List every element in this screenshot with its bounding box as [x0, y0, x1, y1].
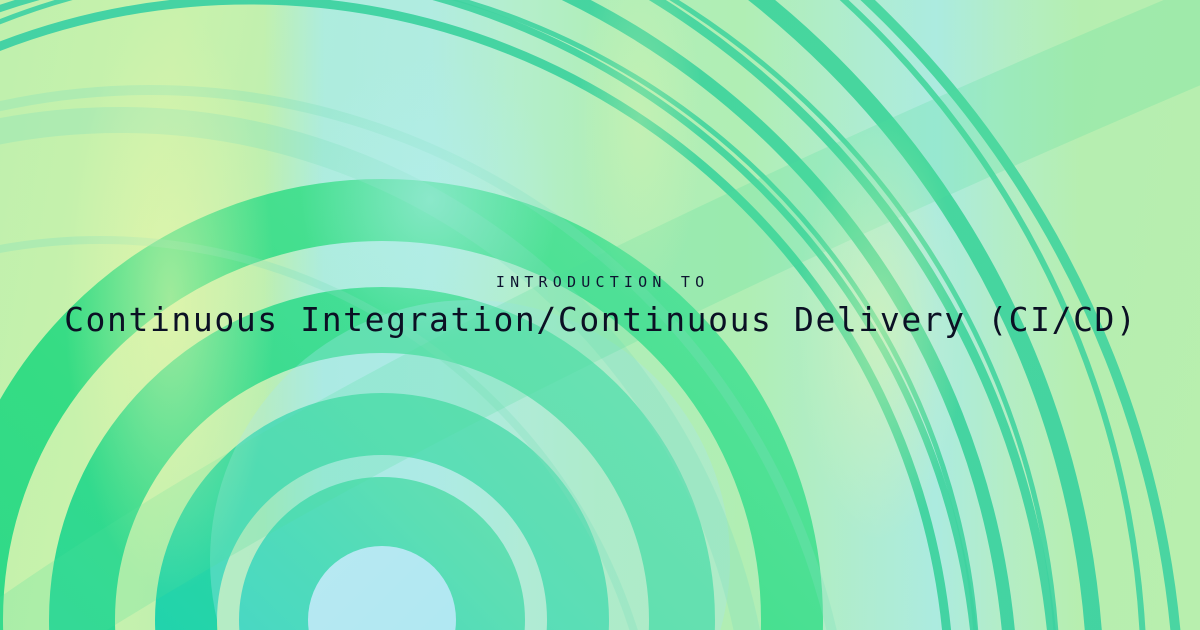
title-card: INTRODUCTION TO Continuous Integration/C…	[0, 0, 1200, 630]
ring-cyan-wash	[210, 300, 730, 630]
ring-band-1	[274, 512, 490, 630]
faint-arc-group	[0, 90, 850, 630]
ring-inner-core	[308, 546, 456, 630]
eyebrow-text: INTRODUCTION TO	[0, 272, 1200, 292]
title-text-block: INTRODUCTION TO Continuous Integration/C…	[0, 272, 1200, 340]
page-title: Continuous Integration/Continuous Delive…	[0, 300, 1200, 340]
ring-band-3	[82, 320, 682, 630]
faint-arc-2	[0, 90, 850, 630]
faint-arc-1	[0, 120, 760, 630]
ring-band-2	[186, 424, 578, 630]
